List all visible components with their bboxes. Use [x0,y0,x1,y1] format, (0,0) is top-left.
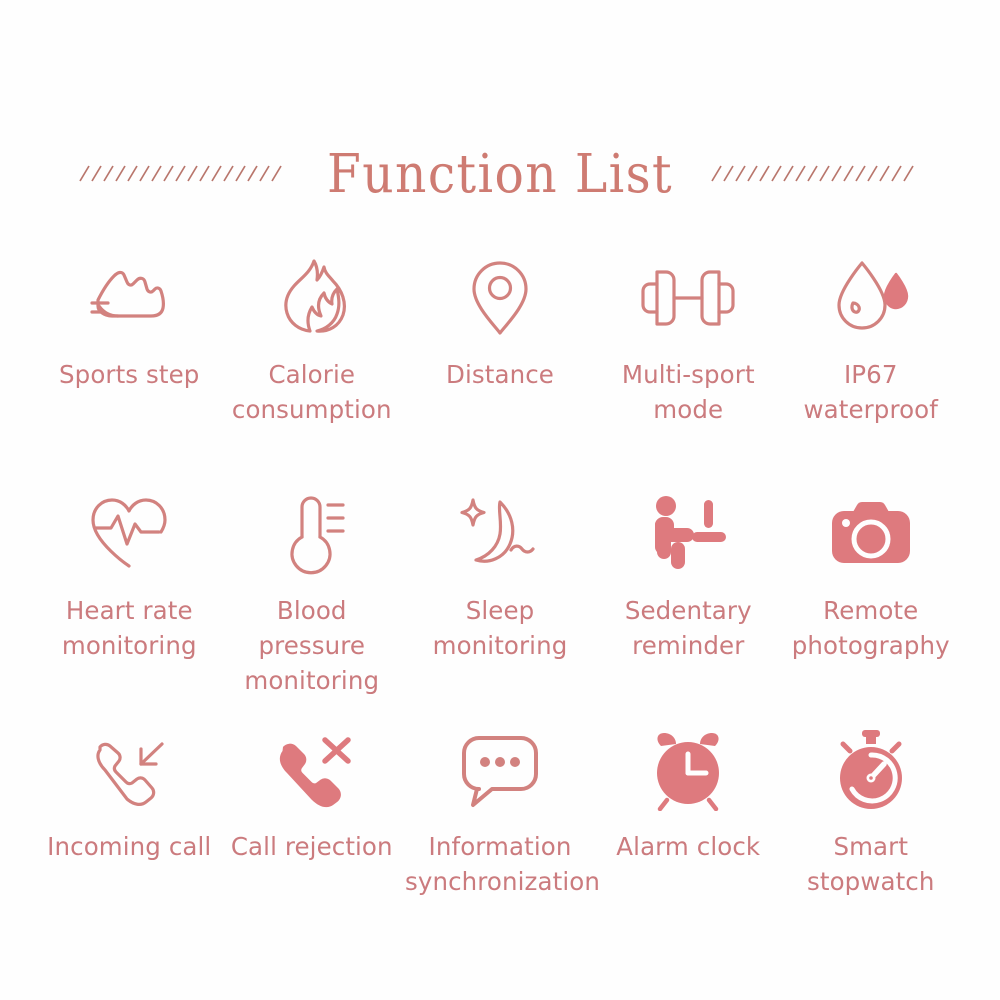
feature-item-sedentary[interactable]: Sedentaryreminder [597,488,780,724]
map-pin-icon [466,252,534,344]
heart-pulse-icon [85,488,173,580]
feature-item-blood-pressure[interactable]: Blood pressuremonitoring [221,488,404,724]
feature-item-remote-photo[interactable]: Remotephotography [780,488,963,724]
feature-label: Smartstopwatch [807,830,934,900]
feature-label: Sedentaryreminder [625,594,752,664]
function-list-page: Function List [0,0,1000,1000]
feature-item-call-rejection[interactable]: Call rejection [221,724,404,960]
feature-label: Remotephotography [792,594,950,664]
feature-item-heart-rate[interactable]: Heart ratemonitoring [38,488,221,724]
feature-item-multi-sport[interactable]: Multi-sportmode [597,252,780,488]
feature-label: IP67waterproof [804,358,939,428]
feature-item-distance[interactable]: Distance [403,252,597,488]
feature-item-ip67-waterproof[interactable]: IP67waterproof [780,252,963,488]
feature-item-smart-stopwatch[interactable]: Smartstopwatch [780,724,963,960]
feature-label: Sleepmonitoring [433,594,568,664]
hatch-ornament-right [710,157,922,191]
feature-item-calorie[interactable]: Calorieconsumption [221,252,404,488]
speech-bubble-icon [457,724,543,816]
stopwatch-icon [830,724,912,816]
feature-label: Multi-sportmode [622,358,755,428]
alarm-clock-icon [647,724,729,816]
flame-icon [277,252,347,344]
hatch-ornament-left [78,157,290,191]
feature-grid: Sports step Calorieconsumption Distance [38,252,962,960]
feature-label: Informationsynchronization [405,830,595,900]
page-title: Function List [327,148,673,201]
feature-item-sports-step[interactable]: Sports step [38,252,221,488]
feature-item-sleep[interactable]: Sleepmonitoring [403,488,597,724]
feature-label: Blood pressuremonitoring [223,594,402,698]
moon-sparkle-icon [456,488,544,580]
sitting-person-icon [646,488,730,580]
feature-item-alarm-clock[interactable]: Alarm clock [597,724,780,960]
dumbbell-icon [633,252,743,344]
phone-reject-icon [270,724,354,816]
thermometer-icon [275,488,349,580]
feature-item-incoming-call[interactable]: Incoming call [38,724,221,960]
feature-label: Distance [446,358,554,393]
page-header: Function List [0,128,1000,220]
feature-label: Sports step [59,358,199,393]
feature-label: Calorieconsumption [232,358,392,428]
water-drop-icon [828,252,914,344]
feature-label: Alarm clock [616,830,760,865]
camera-icon [827,488,915,580]
shoe-icon [86,252,172,344]
phone-incoming-icon [87,724,171,816]
feature-item-info-sync[interactable]: Informationsynchronization [403,724,597,960]
feature-label: Heart ratemonitoring [62,594,197,664]
feature-label: Incoming call [47,830,211,865]
feature-label: Call rejection [231,830,393,865]
